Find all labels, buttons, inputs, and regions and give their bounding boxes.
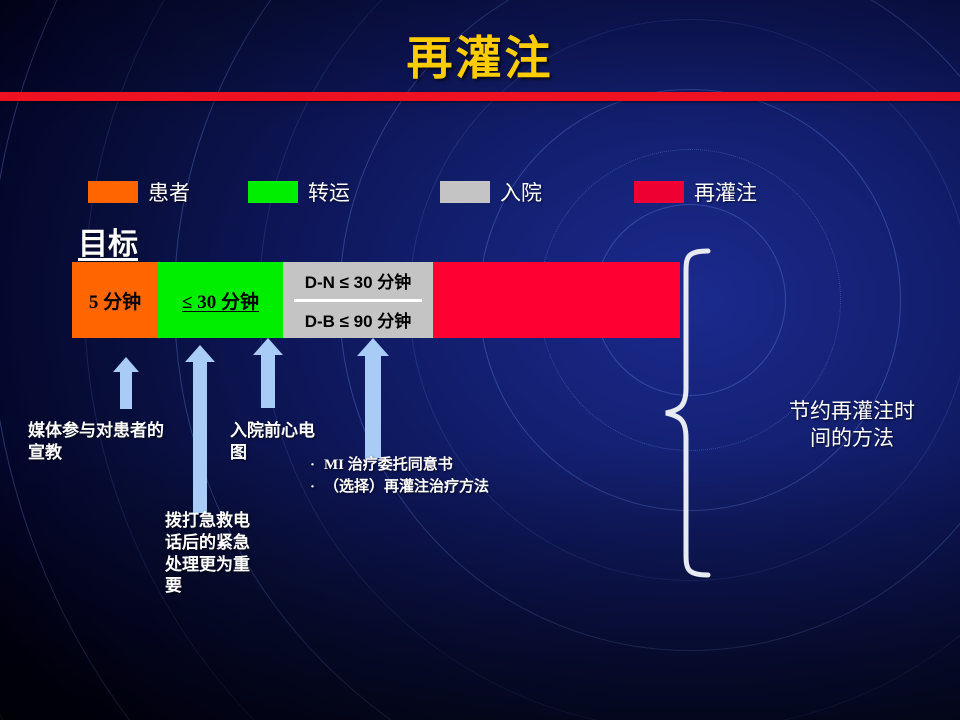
legend-swatch-reperfusion-icon [634, 181, 684, 203]
consent-bullet-list: ·MI 治疗委托同意书 ·（选择）再灌注治疗方法 [310, 455, 489, 499]
title-divider-rule [0, 92, 960, 101]
slide-title: 再灌注 [0, 22, 960, 88]
list-item: ·MI 治疗委托同意书 [310, 455, 489, 477]
background-vignette [0, 0, 960, 720]
right-brace-icon [660, 248, 756, 578]
legend-swatch-transport-icon [248, 181, 298, 203]
legend-item-reperfusion: 再灌注 [634, 177, 757, 207]
timeline-admission-row-dn: D-N ≤ 30 分钟 [283, 262, 433, 299]
arrow-consent-icon [357, 338, 389, 458]
legend-label-patient: 患者 [148, 177, 190, 207]
legend-item-transport: 转运 [248, 177, 350, 207]
goal-label: 目标 [78, 219, 138, 263]
callout-emergency-call: 拨打急救电 话后的紧急 处理更为重 要 [165, 510, 265, 597]
timeline-segment-transport: ≤ 30 分钟 [158, 262, 283, 338]
arrow-media-icon [113, 357, 139, 409]
legend-label-reperfusion: 再灌注 [694, 177, 757, 207]
timeline-segment-patient: 5 分钟 [72, 262, 158, 338]
timeline-segment-admission: D-N ≤ 30 分钟 D-B ≤ 90 分钟 [283, 262, 433, 338]
legend-swatch-patient-icon [88, 181, 138, 203]
timeline-segment-reperfusion [433, 262, 680, 338]
legend-swatch-admission-icon [440, 181, 490, 203]
arrow-ecg-icon [253, 338, 283, 408]
right-caption: 节约再灌注时 间的方法 [752, 398, 952, 453]
bullet-text-1: MI 治疗委托同意书 [324, 457, 453, 473]
callout-media-education: 媒体参与对患者的 宣教 [28, 420, 218, 464]
timeline-segment-transport-label: ≤ 30 分钟 [182, 287, 259, 314]
bullet-dot-icon: · [310, 477, 324, 499]
legend-label-admission: 入院 [500, 177, 542, 207]
timeline-admission-row-db: D-B ≤ 90 分钟 [283, 302, 433, 339]
slide-canvas: 再灌注 患者 转运 入院 再灌注 目标 5 分钟 ≤ 30 分钟 D-N ≤ 3… [0, 0, 960, 720]
list-item: ·（选择）再灌注治疗方法 [310, 477, 489, 499]
bullet-dot-icon: · [310, 455, 324, 477]
legend-label-transport: 转运 [308, 177, 350, 207]
legend-item-admission: 入院 [440, 177, 542, 207]
timeline-bar: 5 分钟 ≤ 30 分钟 D-N ≤ 30 分钟 D-B ≤ 90 分钟 [72, 262, 680, 338]
bullet-text-2: （选择）再灌注治疗方法 [324, 479, 489, 495]
legend-item-patient: 患者 [88, 177, 190, 207]
